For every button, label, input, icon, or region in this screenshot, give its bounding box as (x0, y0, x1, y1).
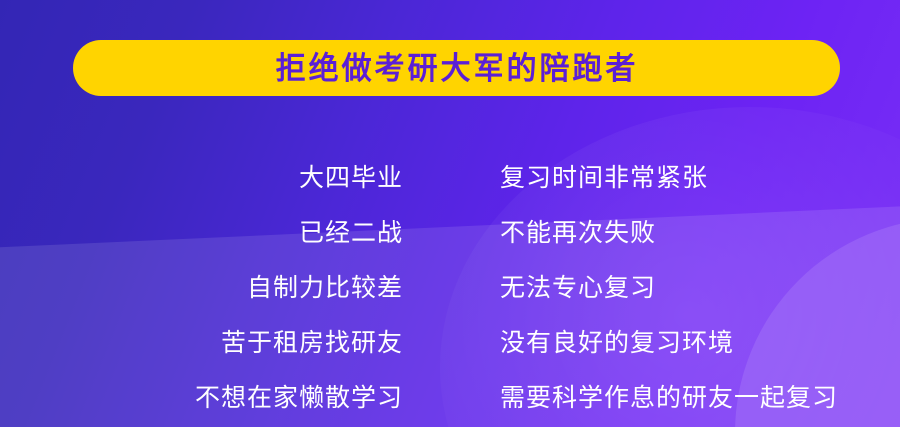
list-item-problem: 没有良好的复习环境 (500, 323, 900, 359)
list-item: 大四毕业 复习时间非常紧张 (0, 148, 900, 203)
list-item-situation: 苦于租房找研友 (0, 323, 403, 359)
list-item-situation: 已经二战 (0, 213, 403, 249)
list-item-situation: 不想在家懒散学习 (0, 378, 403, 414)
list-item-problem: 不能再次失败 (500, 213, 900, 249)
list-item-problem: 需要科学作息的研友一起复习 (500, 378, 900, 414)
list-item-situation: 大四毕业 (0, 158, 403, 194)
list-item: 不想在家懒散学习 需要科学作息的研友一起复习 (0, 368, 900, 423)
promo-poster: 拒绝做考研大军的陪跑者 大四毕业 复习时间非常紧张 已经二战 不能再次失败 自制… (0, 0, 900, 427)
list-item-situation: 自制力比较差 (0, 268, 403, 304)
page-title: 拒绝做考研大军的陪跑者 (275, 53, 638, 84)
pain-point-list: 大四毕业 复习时间非常紧张 已经二战 不能再次失败 自制力比较差 无法专心复习 … (0, 148, 900, 423)
list-item: 已经二战 不能再次失败 (0, 203, 900, 258)
title-banner: 拒绝做考研大军的陪跑者 (73, 40, 840, 96)
list-item-problem: 复习时间非常紧张 (500, 158, 900, 194)
list-item: 苦于租房找研友 没有良好的复习环境 (0, 313, 900, 368)
list-item-problem: 无法专心复习 (500, 268, 900, 304)
list-item: 自制力比较差 无法专心复习 (0, 258, 900, 313)
